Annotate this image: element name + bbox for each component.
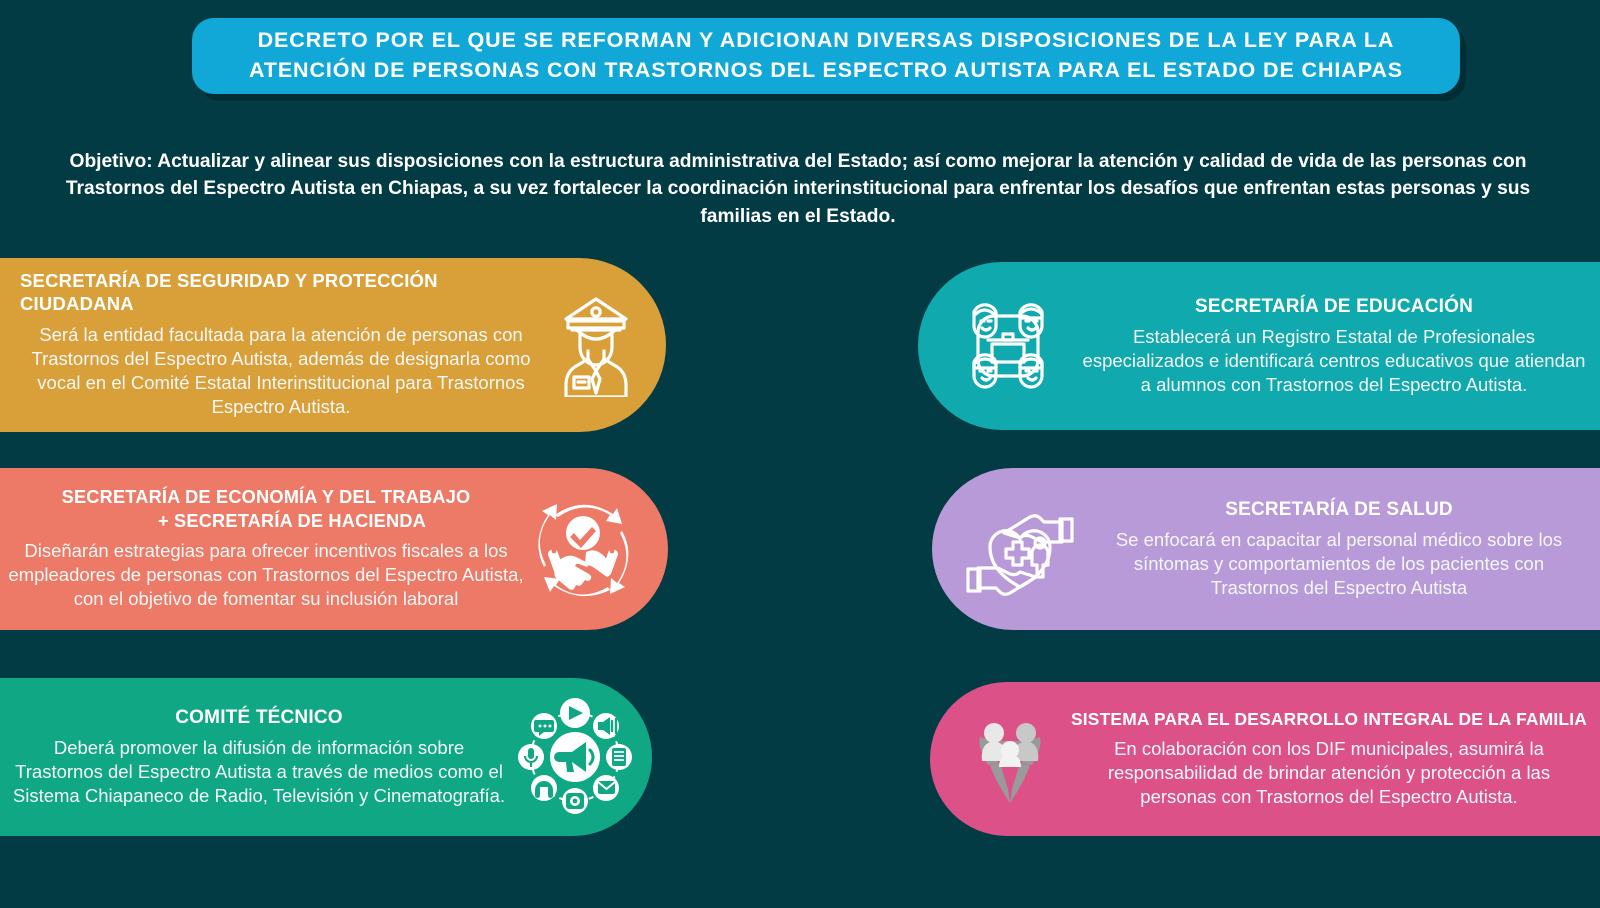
card-dif-text: SISTEMA PARA EL DESARROLLO INTEGRAL DE L…: [1070, 709, 1588, 810]
police-officer-icon: [548, 293, 644, 397]
megaphone-media-icon: [512, 694, 638, 820]
title-banner: DECRETO POR EL QUE SE REFORMAN Y ADICION…: [192, 18, 1460, 94]
card-comite-heading: COMITÉ TÉCNICO: [8, 706, 510, 729]
card-economia-heading-line2: + SECRETARÍA DE HACIENDA: [8, 510, 524, 532]
dif-family-heart-icon: [956, 705, 1064, 813]
card-educacion: SECRETARÍA DE EDUCACIÓN Establecerá un R…: [918, 262, 1600, 430]
card-salud-text: SECRETARÍA DE SALUD Se enfocará en capac…: [1090, 498, 1588, 601]
card-dif-body: En colaboración con los DIF municipales,…: [1070, 737, 1588, 810]
card-comite-text: COMITÉ TÉCNICO Deberá promover la difusi…: [8, 706, 510, 809]
card-seguridad-heading: SECRETARÍA DE SEGURIDAD Y PROTECCIÓN CIU…: [14, 270, 548, 315]
students-around-table-icon: [952, 290, 1064, 402]
card-seguridad-text: SECRETARÍA DE SEGURIDAD Y PROTECCIÓN CIU…: [8, 270, 548, 419]
card-seguridad: SECRETARÍA DE SEGURIDAD Y PROTECCIÓN CIU…: [0, 258, 666, 432]
card-economia-hacienda: SECRETARÍA DE ECONOMÍA Y DEL TRABAJO + S…: [0, 468, 668, 630]
card-dif: SISTEMA PARA EL DESARROLLO INTEGRAL DE L…: [930, 682, 1600, 836]
objective-text: Objetivo: Actualizar y alinear sus dispo…: [28, 148, 1568, 230]
card-economia-text: SECRETARÍA DE ECONOMÍA Y DEL TRABAJO + S…: [8, 486, 524, 611]
hands-heart-care-icon: [964, 491, 1076, 607]
card-comite-tecnico: COMITÉ TÉCNICO Deberá promover la difusi…: [0, 678, 652, 836]
title-line-1: DECRETO POR EL QUE SE REFORMAN Y ADICION…: [249, 26, 1403, 56]
card-educacion-text: SECRETARÍA DE EDUCACIÓN Establecerá un R…: [1082, 295, 1586, 398]
card-dif-heading: SISTEMA PARA EL DESARROLLO INTEGRAL DE L…: [1070, 709, 1588, 730]
handshake-cycle-icon: [524, 491, 642, 607]
card-educacion-heading: SECRETARÍA DE EDUCACIÓN: [1082, 295, 1586, 318]
card-economia-heading-line1: SECRETARÍA DE ECONOMÍA Y DEL TRABAJO: [8, 486, 524, 508]
card-seguridad-body: Será la entidad facultada para la atenci…: [14, 323, 548, 420]
card-comite-body: Deberá promover la difusión de informaci…: [8, 736, 510, 809]
card-salud-heading: SECRETARÍA DE SALUD: [1090, 498, 1588, 521]
card-economia-body: Diseñarán estrategias para ofrecer incen…: [8, 539, 524, 612]
card-educacion-body: Establecerá un Registro Estatal de Profe…: [1082, 325, 1586, 398]
card-salud: SECRETARÍA DE SALUD Se enfocará en capac…: [932, 468, 1600, 630]
infographic-root: DECRETO POR EL QUE SE REFORMAN Y ADICION…: [0, 0, 1600, 908]
card-salud-body: Se enfocará en capacitar al personal méd…: [1090, 528, 1588, 601]
title-line-2: ATENCIÓN DE PERSONAS CON TRASTORNOS DEL …: [249, 56, 1403, 86]
